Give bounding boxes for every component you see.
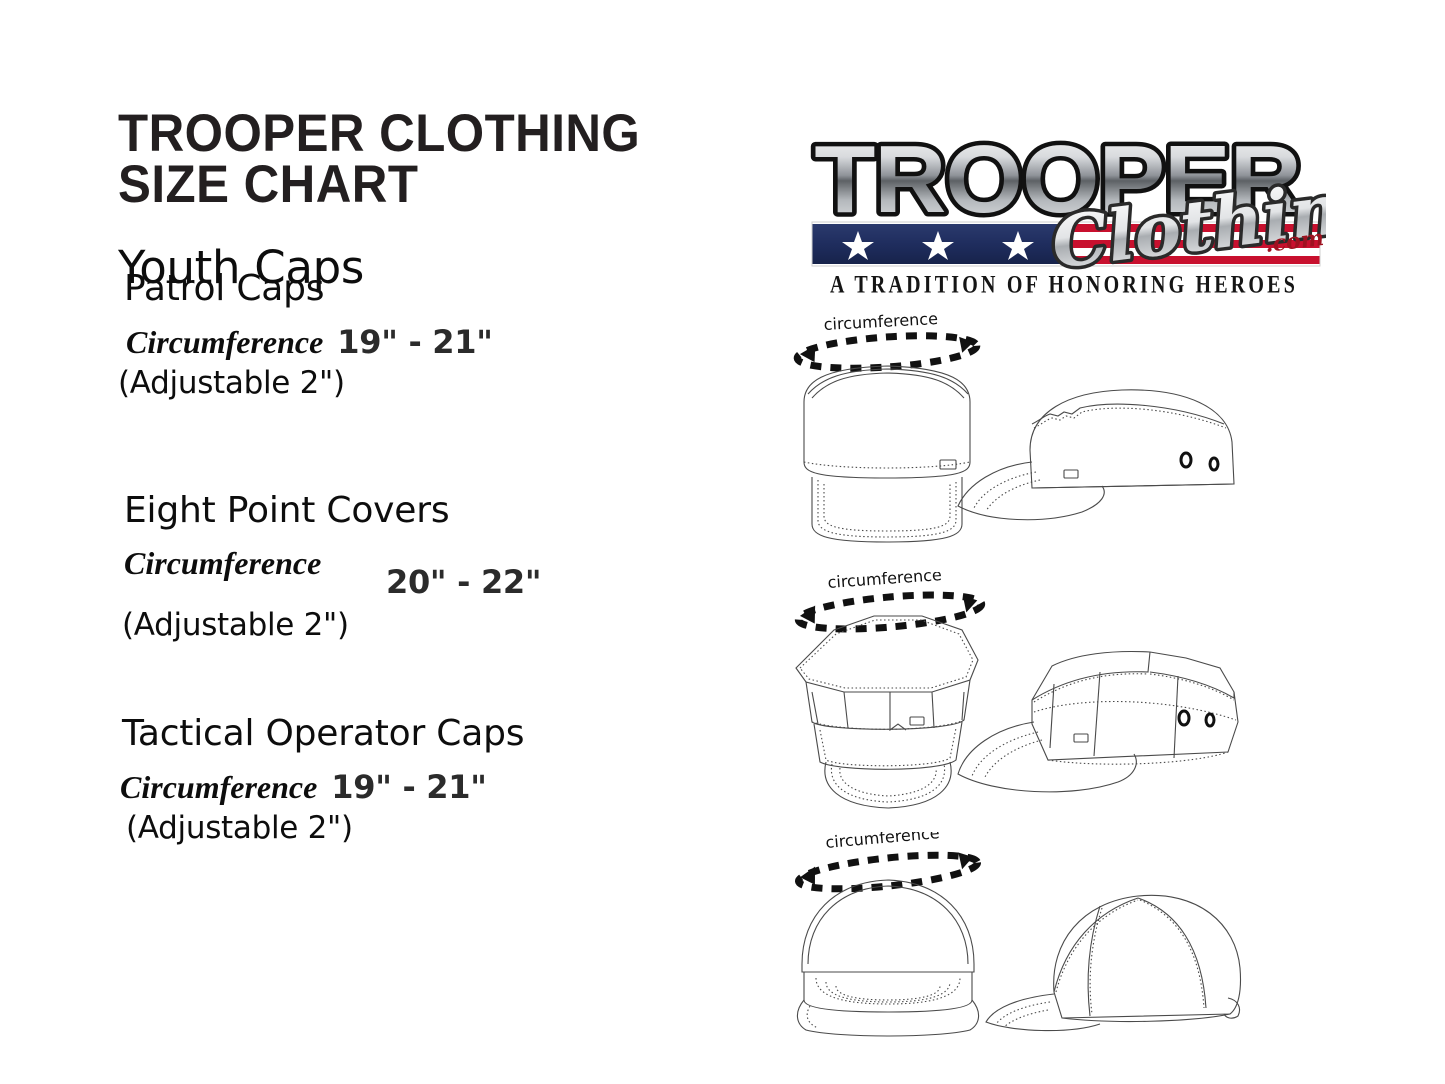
patrol-cap-front-view [804, 366, 970, 542]
group-name: Patrol Caps [118, 268, 738, 309]
circumference-label-graphic: circumference [825, 832, 941, 852]
diagram-tactical-operator-caps: circumference [782, 832, 1302, 1047]
diagram-eight-point-covers: circumference [782, 572, 1302, 822]
size-chart-page: TROOPER CLOTHING SIZE CHART Youth Caps P… [0, 0, 1445, 1084]
page-title-line-1: TROOPER CLOTHING [118, 108, 695, 159]
group-name: Eight Point Covers [118, 490, 738, 531]
text-column: TROOPER CLOTHING SIZE CHART Youth Caps [118, 108, 738, 294]
logo-tagline-graphic: A TRADITION OF HONORING HEROES [830, 271, 1298, 299]
measurement-row: Circumference 19" - 21" [118, 768, 738, 806]
group-name: Tactical Operator Caps [118, 713, 738, 754]
eight-point-cover-side-view [958, 652, 1238, 792]
measurement-label: Circumference [126, 324, 323, 361]
adjustable-note: (Adjustable 2") [118, 607, 738, 643]
circumference-label-graphic: circumference [823, 312, 938, 334]
size-group-patrol-caps: Patrol Caps Circumference 19" - 21" (Adj… [118, 268, 738, 401]
size-group-eight-point-covers: Eight Point Covers Circumference 20" - 2… [118, 490, 738, 643]
eight-point-cover-front-view [796, 616, 978, 808]
page-title-line-2: SIZE CHART [118, 159, 695, 210]
measurement-row: Circumference 19" - 21" [118, 323, 738, 361]
measurement-value: 19" - 21" [331, 768, 486, 806]
adjustable-note: (Adjustable 2") [118, 810, 738, 846]
adjustable-note: (Adjustable 2") [118, 365, 738, 401]
measurement-value: 20" - 22" [386, 563, 541, 601]
measurement-row: Circumference 20" - 22" [118, 545, 738, 589]
measurement-label: Circumference [120, 769, 317, 806]
tactical-operator-cap-side-view [986, 895, 1241, 1030]
measurement-value: 19" - 21" [337, 323, 492, 361]
diagram-patrol-caps: circumference [782, 312, 1302, 557]
page-title: TROOPER CLOTHING SIZE CHART [118, 108, 695, 211]
circumference-label-graphic: circumference [827, 572, 942, 592]
size-group-tactical-operator-caps: Tactical Operator Caps Circumference 19"… [118, 713, 738, 846]
measurement-label: Circumference [124, 545, 321, 582]
trooper-clothing-logo: TROOPER TROOPER Clothing Clothing .com A… [806, 104, 1326, 309]
patrol-cap-side-view [958, 390, 1234, 520]
tactical-operator-cap-front-view [797, 880, 978, 1036]
